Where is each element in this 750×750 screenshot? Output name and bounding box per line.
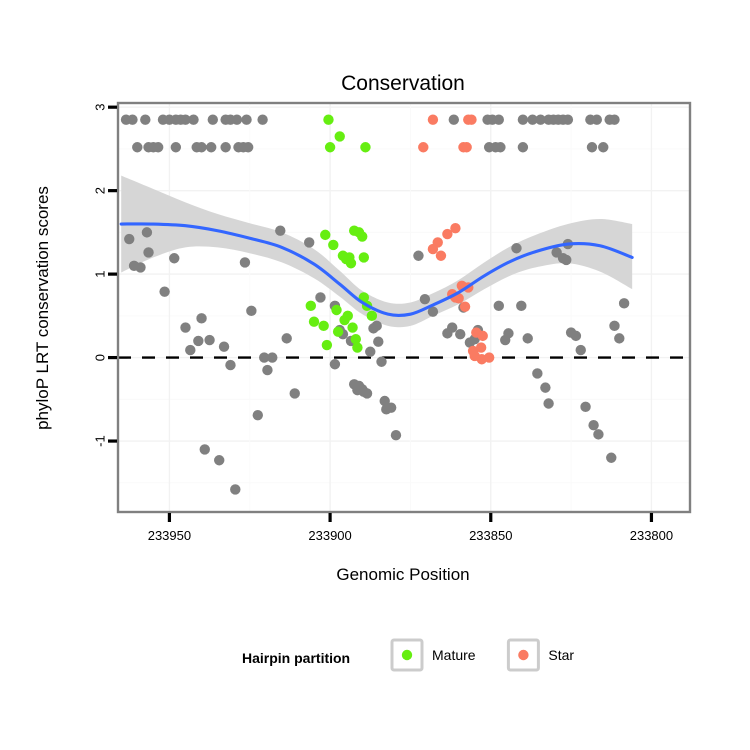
data-point-other <box>246 306 256 316</box>
data-point-other <box>391 430 401 440</box>
data-point-other <box>159 286 169 296</box>
data-point-other <box>214 455 224 465</box>
data-point-mature <box>343 311 353 321</box>
data-point-other <box>304 237 314 247</box>
data-point-other <box>609 114 619 124</box>
data-point-other <box>543 398 553 408</box>
data-point-star <box>436 251 446 261</box>
data-point-other <box>455 329 465 339</box>
data-point-mature <box>359 252 369 262</box>
data-point-other <box>230 484 240 494</box>
data-point-other <box>518 114 528 124</box>
x-tick-label: 233800 <box>630 528 673 543</box>
data-point-other <box>124 234 134 244</box>
y-axis-title: phyloP LRT conservation scores <box>33 186 52 430</box>
data-point-mature <box>323 114 333 124</box>
data-point-other <box>220 142 230 152</box>
data-point-star <box>428 114 438 124</box>
data-point-star <box>428 244 438 254</box>
data-point-star <box>450 223 460 233</box>
data-point-other <box>619 298 629 308</box>
x-tick-label: 233950 <box>148 528 191 543</box>
data-point-other <box>240 257 250 267</box>
data-point-other <box>143 247 153 257</box>
data-point-other <box>257 114 267 124</box>
data-point-other <box>576 345 586 355</box>
y-tick-label: 0 <box>93 354 108 361</box>
data-point-other <box>447 322 457 332</box>
x-tick-label: 233900 <box>308 528 351 543</box>
data-point-mature <box>320 230 330 240</box>
y-tick-label: 2 <box>93 187 108 194</box>
legend-key-marker <box>402 650 412 660</box>
data-point-other <box>290 388 300 398</box>
data-point-other <box>609 321 619 331</box>
data-point-mature <box>360 142 370 152</box>
data-point-other <box>140 114 150 124</box>
data-point-other <box>494 301 504 311</box>
data-point-other <box>132 142 142 152</box>
data-point-other <box>511 243 521 253</box>
data-point-other <box>206 142 216 152</box>
data-point-other <box>193 336 203 346</box>
data-point-other <box>200 444 210 454</box>
data-point-other <box>523 333 533 343</box>
y-tick-label: -1 <box>93 435 108 447</box>
data-point-other <box>587 142 597 152</box>
data-point-mature <box>333 327 343 337</box>
data-point-other <box>494 114 504 124</box>
data-point-other <box>365 347 375 357</box>
data-point-mature <box>346 258 356 268</box>
data-point-other <box>420 294 430 304</box>
data-point-other <box>386 402 396 412</box>
data-point-mature <box>309 316 319 326</box>
data-point-other <box>449 114 459 124</box>
chart-svg: Conservation 233950233900233850233800 32… <box>0 0 750 750</box>
data-point-other <box>253 410 263 420</box>
data-point-star <box>461 142 471 152</box>
data-point-star <box>484 352 494 362</box>
data-point-other <box>196 142 206 152</box>
data-point-star <box>466 114 476 124</box>
data-point-other <box>196 313 206 323</box>
data-point-other <box>275 226 285 236</box>
data-point-other <box>282 333 292 343</box>
data-point-other <box>588 420 598 430</box>
data-point-other <box>540 382 550 392</box>
data-point-mature <box>325 142 335 152</box>
data-point-mature <box>352 342 362 352</box>
data-point-other <box>532 368 542 378</box>
data-point-other <box>169 253 179 263</box>
data-point-other <box>592 114 602 124</box>
data-point-other <box>241 114 251 124</box>
data-point-other <box>561 255 571 265</box>
data-point-other <box>185 345 195 355</box>
data-point-other <box>518 142 528 152</box>
legend-label: Star <box>548 647 574 663</box>
chart-title: Conservation <box>341 72 465 95</box>
data-point-other <box>135 262 145 272</box>
data-point-other <box>153 142 163 152</box>
data-point-star <box>478 331 488 341</box>
data-point-other <box>243 142 253 152</box>
y-tick-label: 1 <box>93 270 108 277</box>
data-point-mature <box>335 131 345 141</box>
data-point-other <box>262 365 272 375</box>
data-point-other <box>371 321 381 331</box>
data-point-other <box>204 335 214 345</box>
data-point-other <box>376 357 386 367</box>
data-point-other <box>232 114 242 124</box>
data-point-star <box>460 301 470 311</box>
data-point-other <box>503 328 513 338</box>
data-point-other <box>614 333 624 343</box>
data-point-other <box>315 292 325 302</box>
legend-label: Mature <box>432 647 476 663</box>
data-point-other <box>516 301 526 311</box>
data-point-other <box>330 359 340 369</box>
data-point-mature <box>306 301 316 311</box>
data-point-other <box>127 114 137 124</box>
legend-key-marker <box>518 650 528 660</box>
conservation-plot: Conservation 233950233900233850233800 32… <box>0 0 750 750</box>
data-point-other <box>495 142 505 152</box>
data-point-other <box>219 342 229 352</box>
x-tick-label: 233850 <box>469 528 512 543</box>
data-point-mature <box>331 305 341 315</box>
data-point-star <box>476 342 486 352</box>
x-axis-title: Genomic Position <box>336 565 469 584</box>
data-point-mature <box>318 321 328 331</box>
data-point-other <box>142 227 152 237</box>
y-tick-label: 3 <box>93 104 108 111</box>
data-point-other <box>267 352 277 362</box>
legend-title: Hairpin partition <box>242 650 350 666</box>
data-point-other <box>598 142 608 152</box>
data-point-other <box>413 251 423 261</box>
data-point-other <box>208 114 218 124</box>
data-point-other <box>180 322 190 332</box>
data-point-other <box>580 402 590 412</box>
data-point-other <box>593 429 603 439</box>
data-point-other <box>606 453 616 463</box>
data-point-mature <box>367 311 377 321</box>
data-point-other <box>373 337 383 347</box>
data-point-other <box>171 142 181 152</box>
data-point-mature <box>328 240 338 250</box>
data-point-mature <box>322 340 332 350</box>
data-point-star <box>418 142 428 152</box>
data-point-mature <box>357 231 367 241</box>
data-point-other <box>225 360 235 370</box>
data-point-other <box>571 331 581 341</box>
data-point-mature <box>347 322 357 332</box>
data-point-other <box>362 388 372 398</box>
data-point-other <box>188 114 198 124</box>
data-point-other <box>563 114 573 124</box>
